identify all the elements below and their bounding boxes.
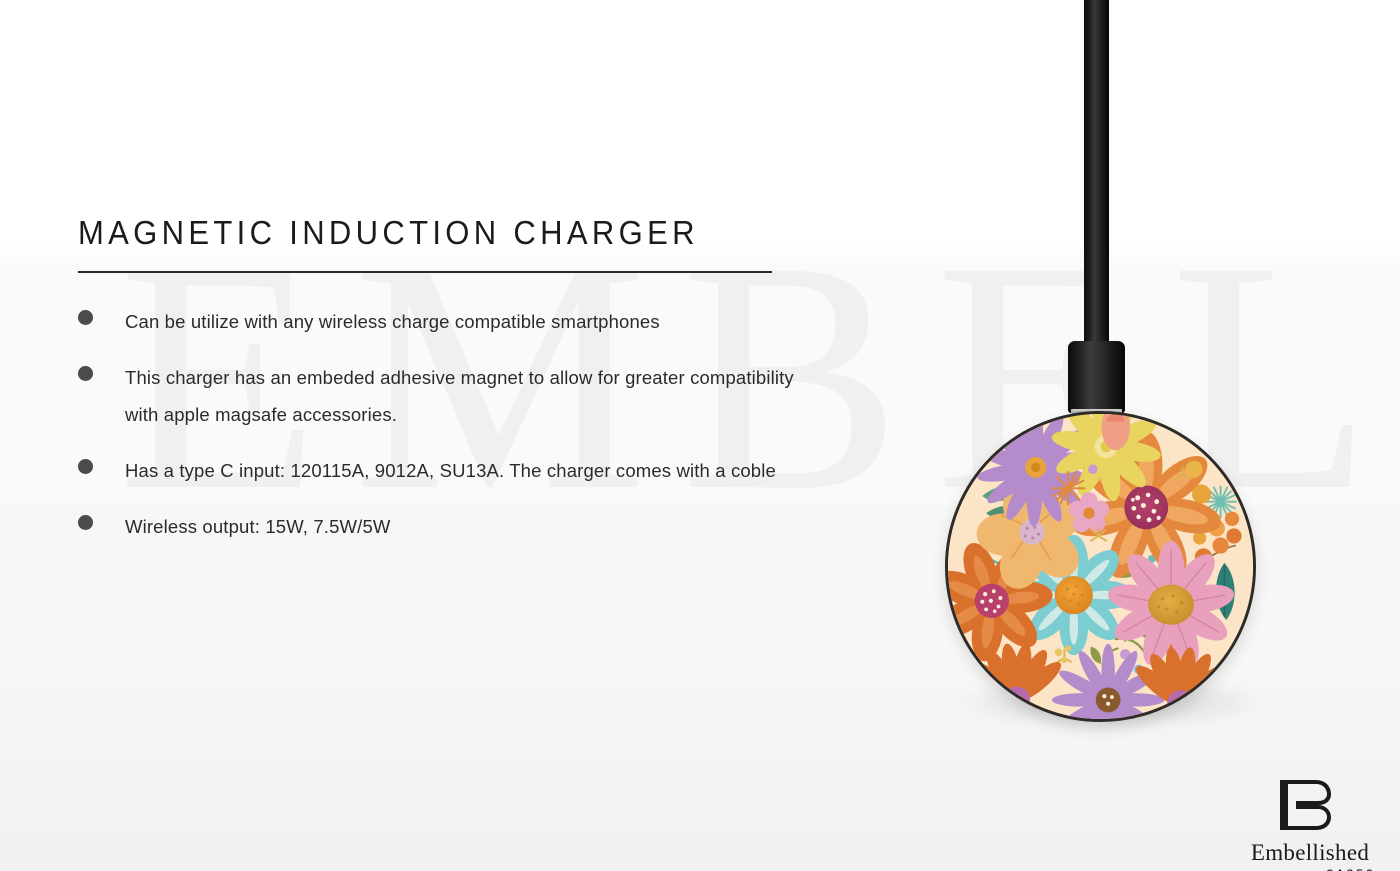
floral-pattern-icon [948,414,1253,719]
bullet-dot-icon [78,366,93,381]
cable-connector-boot [1068,341,1125,413]
feature-text: This charger has an embeded adhesive mag… [125,359,805,433]
e-monogram-icon [1276,778,1332,832]
product-infographic: EMBEL MAGNETIC INDUCTION CHARGER Can be … [0,0,1400,871]
bullet-dot-icon [78,459,93,474]
feature-text: Can be utilize with any wireless charge … [125,303,660,340]
charger-cable [1084,0,1109,356]
page-title: MAGNETIC INDUCTION CHARGER [78,214,699,252]
brand-logo: Embellished CASES [1240,778,1380,871]
bullet-dot-icon [78,515,93,530]
feature-text: Has a type C input: 120115A, 9012A, SU13… [125,452,776,489]
feature-list: Can be utilize with any wireless charge … [78,303,818,545]
list-item: This charger has an embeded adhesive mag… [78,359,818,433]
bullet-dot-icon [78,310,93,325]
brand-name: Embellished [1240,841,1380,864]
title-divider [78,271,772,273]
charger-disc [945,411,1256,722]
list-item: Wireless output: 15W, 7.5W/5W [78,508,818,545]
list-item: Can be utilize with any wireless charge … [78,303,818,340]
list-item: Has a type C input: 120115A, 9012A, SU13… [78,452,818,489]
feature-text: Wireless output: 15W, 7.5W/5W [125,508,391,545]
